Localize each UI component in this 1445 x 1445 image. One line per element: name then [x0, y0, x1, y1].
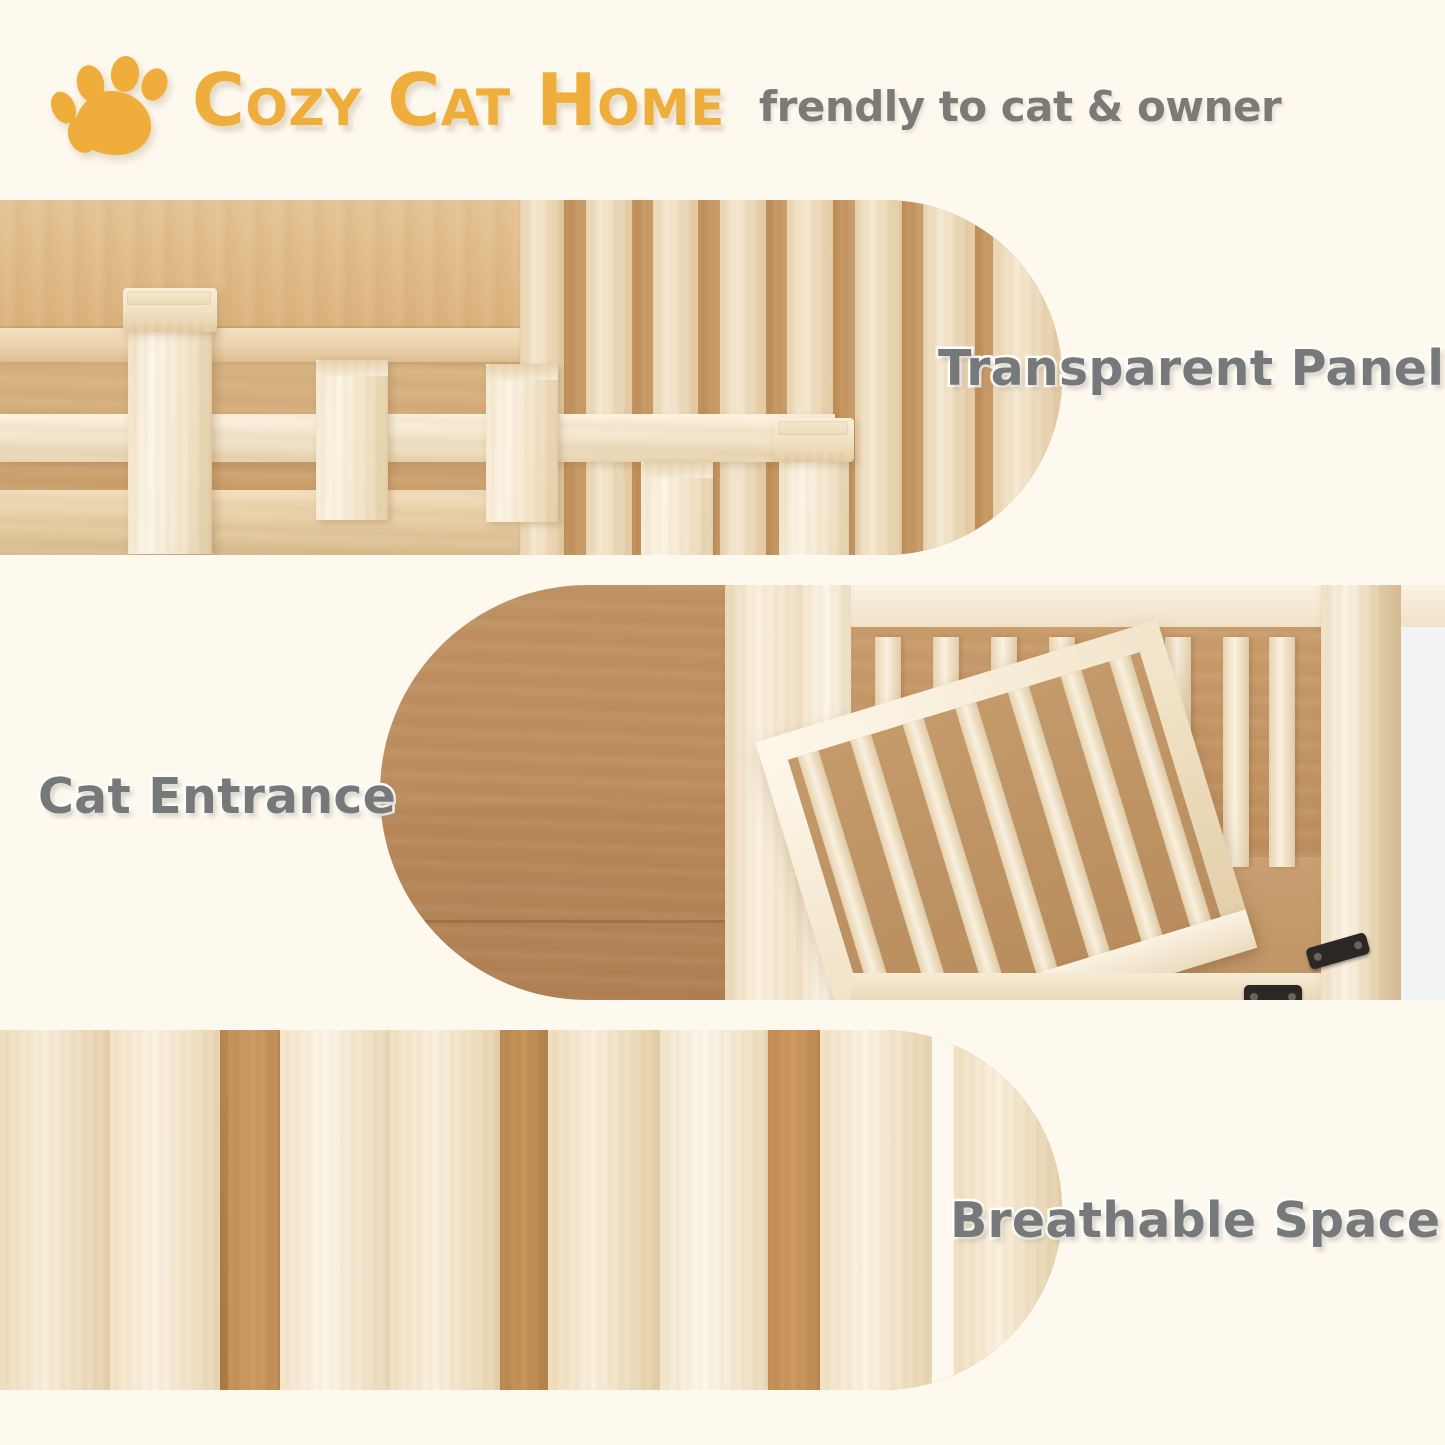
- feature-label-cat-entrance: Cat Entrance: [38, 768, 396, 825]
- right-edge-board: [1379, 585, 1401, 1000]
- feature-label-breathable-space: Breathable Space: [950, 1192, 1440, 1249]
- fence-post-cap: [123, 288, 217, 332]
- slat: [228, 1030, 280, 1390]
- slat: [0, 1030, 110, 1390]
- door-latch-lower-icon[interactable]: [1244, 985, 1302, 1000]
- fence-post-cap-right: [774, 418, 854, 462]
- slat: [280, 1030, 390, 1390]
- fence-picket-3: [641, 462, 713, 555]
- slat: [548, 1030, 660, 1390]
- interior-side-wall: [380, 585, 725, 1000]
- paw-toe-4: [137, 65, 172, 105]
- fence-rail: [0, 414, 835, 462]
- slat: [820, 1030, 932, 1390]
- brand-header: Cozy Cat Home frendly to cat & owner: [0, 0, 1445, 200]
- fence-post-right: [779, 452, 849, 555]
- slat: [500, 1030, 548, 1390]
- fence-picket-1: [316, 360, 388, 520]
- feature-image-transparent-panel: [0, 200, 1062, 555]
- feature-image-breathable-space: [0, 1030, 1062, 1390]
- slat: [768, 1030, 820, 1390]
- brand-title: Cozy Cat Home: [192, 64, 725, 136]
- paw-print-icon: [48, 51, 166, 155]
- slat: [390, 1030, 500, 1390]
- feature-label-transparent-panel: Transparent Panel: [938, 340, 1444, 397]
- paw-toe-3: [109, 55, 141, 94]
- fence-picket-2: [486, 364, 558, 522]
- paw-main-pad: [75, 91, 151, 155]
- feature-image-cat-entrance: [380, 585, 1445, 1000]
- fence-post-left: [128, 322, 212, 554]
- brand-tagline: frendly to cat & owner: [759, 82, 1281, 131]
- slat: [110, 1030, 220, 1390]
- slat: [660, 1030, 768, 1390]
